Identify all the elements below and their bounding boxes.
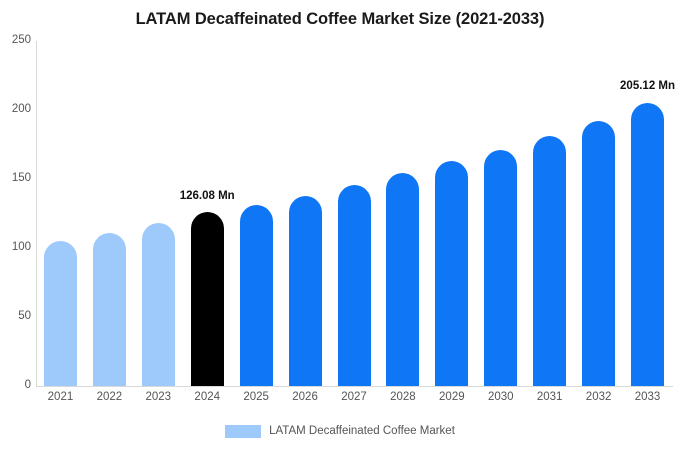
legend-swatch-icon [225, 425, 261, 438]
data-label-2024: 126.08 Mn [180, 191, 235, 203]
bar-2031[interactable] [533, 136, 566, 386]
y-axis-tick-label: 100 [1, 242, 31, 254]
x-axis-tick-label: 2024 [183, 392, 232, 404]
bar-2021[interactable] [44, 241, 77, 386]
x-axis-tick-label: 2021 [36, 392, 85, 404]
x-axis-tick-label: 2028 [378, 392, 427, 404]
x-axis-tick-label: 2031 [525, 392, 574, 404]
bar-2028[interactable] [386, 173, 419, 386]
bar-2032[interactable] [582, 121, 615, 386]
chart-container: LATAM Decaffeinated Coffee Market Size (… [0, 0, 680, 450]
chart-title: LATAM Decaffeinated Coffee Market Size (… [0, 10, 680, 29]
bar-2030[interactable] [484, 150, 517, 386]
y-axis-tick-label: 200 [1, 104, 31, 116]
x-axis-tick-label: 2030 [476, 392, 525, 404]
x-axis-tick-label: 2022 [85, 392, 134, 404]
x-axis-tick-label: 2026 [281, 392, 330, 404]
legend-item[interactable]: LATAM Decaffeinated Coffee Market [225, 425, 455, 438]
bar-2022[interactable] [93, 233, 126, 386]
bar-2024[interactable] [191, 212, 224, 386]
x-axis-tick-label: 2029 [427, 392, 476, 404]
x-axis-tick-label: 2025 [232, 392, 281, 404]
bar-2023[interactable] [142, 223, 175, 386]
bar-2029[interactable] [435, 161, 468, 386]
data-label-2033: 205.12 Mn [620, 81, 675, 93]
y-axis: 050100150200250 [0, 41, 31, 386]
y-axis-tick-label: 50 [1, 311, 31, 323]
bar-2033[interactable] [631, 103, 664, 386]
y-axis-tick-label: 250 [1, 35, 31, 47]
y-axis-tick-label: 150 [1, 173, 31, 185]
bar-2026[interactable] [289, 196, 322, 386]
bars-layer: 126.08 Mn205.12 Mn [36, 41, 672, 386]
chart-legend: LATAM Decaffeinated Coffee Market [0, 425, 680, 438]
x-axis-tick-label: 2033 [623, 392, 672, 404]
legend-label: LATAM Decaffeinated Coffee Market [269, 426, 455, 438]
y-axis-tick-label: 0 [1, 380, 31, 392]
x-axis-tick-label: 2032 [574, 392, 623, 404]
x-axis-tick-label: 2027 [330, 392, 379, 404]
bar-2027[interactable] [338, 185, 371, 386]
bar-2025[interactable] [240, 205, 273, 386]
x-axis-tick-label: 2023 [134, 392, 183, 404]
x-axis: 2021202220232024202520262027202820292030… [36, 392, 672, 410]
